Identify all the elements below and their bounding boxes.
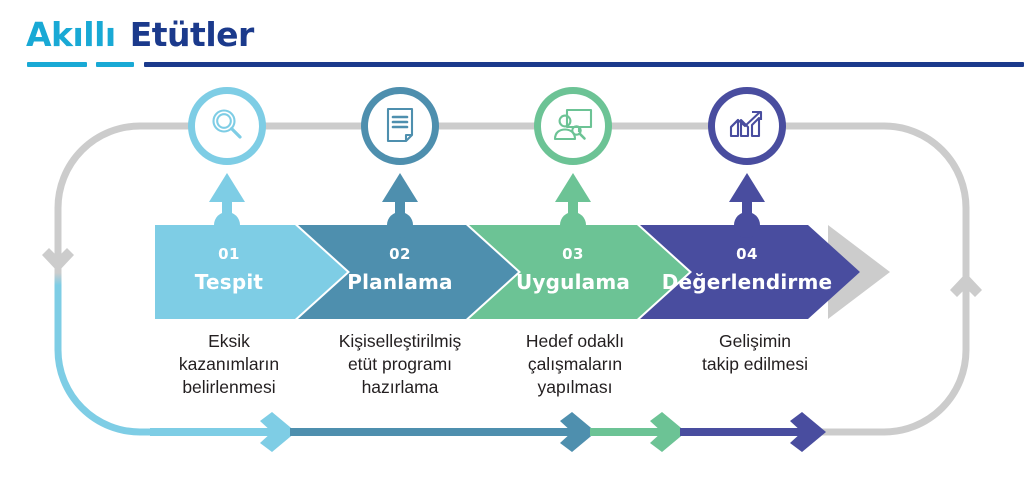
infographic-canvas: Akıllı Etütler bbox=[0, 0, 1024, 477]
step-description-4: Gelişimintakip edilmesi bbox=[662, 330, 848, 376]
step-icon-node-3[interactable] bbox=[534, 87, 612, 165]
document-icon bbox=[380, 105, 420, 147]
step-icon-node-1[interactable] bbox=[188, 87, 266, 165]
bottom-progress-line bbox=[0, 0, 1024, 477]
step-description-1: Eksikkazanımlarınbelirlenmesi bbox=[150, 330, 308, 399]
step-description-2: Kişiselleştirilmişetüt programıhazırlama bbox=[312, 330, 488, 399]
step-icon-node-4[interactable] bbox=[708, 87, 786, 165]
bar-chart-growth-icon bbox=[726, 106, 768, 146]
progress-seg-2 bbox=[290, 428, 580, 436]
progress-seg-3 bbox=[590, 428, 670, 436]
presentation-person-icon bbox=[551, 105, 595, 147]
step-icon-node-2[interactable] bbox=[361, 87, 439, 165]
magnifier-icon bbox=[206, 105, 248, 147]
step-description-3: Hedef odaklıçalışmalarınyapılması bbox=[492, 330, 658, 399]
progress-seg-1 bbox=[150, 428, 280, 436]
progress-seg-4 bbox=[680, 428, 810, 436]
